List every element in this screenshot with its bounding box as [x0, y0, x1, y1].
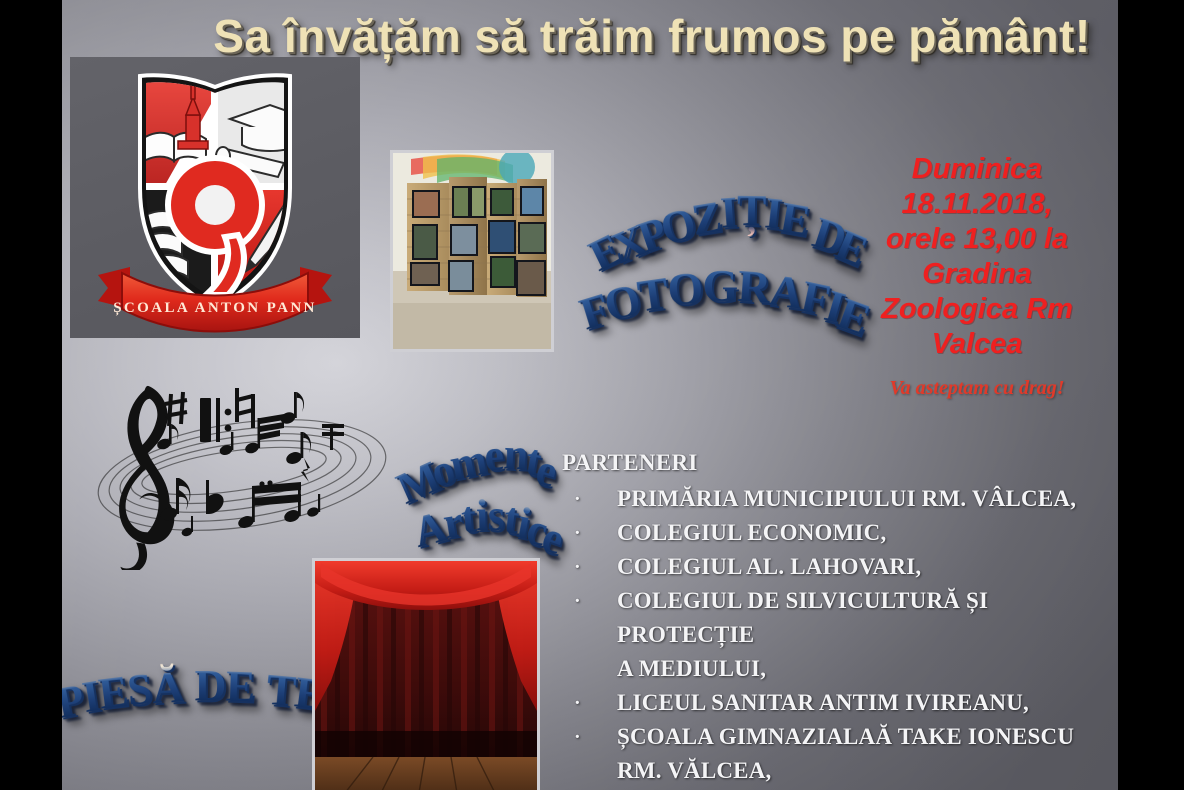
poster-frame: Sa învățăm să trăim frumos pe pământ!	[0, 0, 1184, 790]
event-line-4: Zoologica Rm	[852, 292, 1102, 327]
photo-exhibition-image	[393, 153, 551, 349]
bullet-icon: ·	[574, 686, 581, 720]
partner-name: COLEGIUL AL. LAHOVARI,	[617, 554, 921, 579]
list-item: · ȘCOALA GIMNAZIALAĂ TAKE IONESCU RM. VĂ…	[562, 720, 1118, 788]
wordart-exhibition-line1: EXPOZIȚIE DE	[568, 180, 885, 231]
music-notes-graphic	[72, 370, 392, 570]
red-curtain-icon	[315, 561, 537, 790]
partners-list: · PRIMĂRIA MUNICIPIULUI RM. VÂLCEA, · CO…	[562, 482, 1118, 790]
list-item: · COLEGIUL ECONOMIC,	[562, 516, 1118, 550]
event-line-5: Valcea	[852, 327, 1102, 362]
partner-name: COLEGIUL ECONOMIC,	[617, 520, 886, 545]
event-closing-note: Va asteptam cu drag!	[852, 376, 1102, 400]
partners-section: PARTENERI · PRIMĂRIA MUNICIPIULUI RM. VÂ…	[562, 450, 1118, 790]
bullet-icon: ·	[574, 584, 581, 618]
event-line-0: Duminica	[852, 152, 1102, 187]
wordart-exhibition-line2: FOTOGRAFIE	[572, 256, 881, 309]
list-item: · COLEGIUL DE SILVICULTURĂ ȘI PROTECȚIE …	[562, 584, 1118, 686]
wordart-artistic-moments-line2: Artistice	[410, 488, 571, 539]
list-item: · LICEUL SANITAR ANTIM IVIREANU,	[562, 686, 1118, 720]
partner-name-cont: RM. VĂLCEA,	[617, 754, 1118, 788]
partner-name: LICEUL SANITAR ANTIM IVIREANU,	[617, 690, 1029, 715]
partner-name: COLEGIUL DE SILVICULTURĂ ȘI PROTECȚIE	[617, 588, 988, 647]
bullet-icon: ·	[574, 550, 581, 584]
event-line-2: orele 13,00 la	[852, 222, 1102, 257]
scoala-anton-pann-logo-icon: ȘCOALA ANTON PANN	[70, 57, 360, 338]
event-line-3: Gradina	[852, 257, 1102, 292]
bullet-icon: ·	[574, 482, 581, 516]
partner-name: ȘCOALA GIMNAZIALAĂ TAKE IONESCU	[617, 724, 1074, 749]
partner-name-cont: A MEDIULUI,	[617, 652, 1118, 686]
wordart-artistic-moments-line1: Momente	[384, 426, 562, 477]
school-logo-panel: ȘCOALA ANTON PANN	[70, 57, 360, 338]
logo-ribbon-text: ȘCOALA ANTON PANN	[113, 300, 317, 316]
exhibition-photo	[390, 150, 554, 352]
partners-title: PARTENERI	[562, 450, 1118, 476]
list-item: · PRIMĂRIA MUNICIPIULUI RM. VÂLCEA,	[562, 482, 1118, 516]
event-details: Duminica 18.11.2018, orele 13,00 la Grad…	[852, 152, 1102, 362]
theatre-curtain-image	[312, 558, 540, 790]
bullet-icon: ·	[574, 516, 581, 550]
wordart-exhibition: EXPOZIȚIE DE FOTOGRAFIE	[562, 168, 882, 368]
partner-name: PRIMĂRIA MUNICIPIULUI RM. VÂLCEA,	[617, 486, 1076, 511]
list-item: · COLEGIUL AL. LAHOVARI,	[562, 550, 1118, 584]
bullet-icon: ·	[574, 720, 581, 754]
wordart-theatre-play: PIESĂ DE TEATRU	[62, 650, 354, 750]
treble-clef-icon	[72, 370, 392, 570]
poster-canvas: Sa învățăm să trăim frumos pe pământ!	[62, 0, 1118, 790]
event-line-1: 18.11.2018,	[852, 187, 1102, 222]
